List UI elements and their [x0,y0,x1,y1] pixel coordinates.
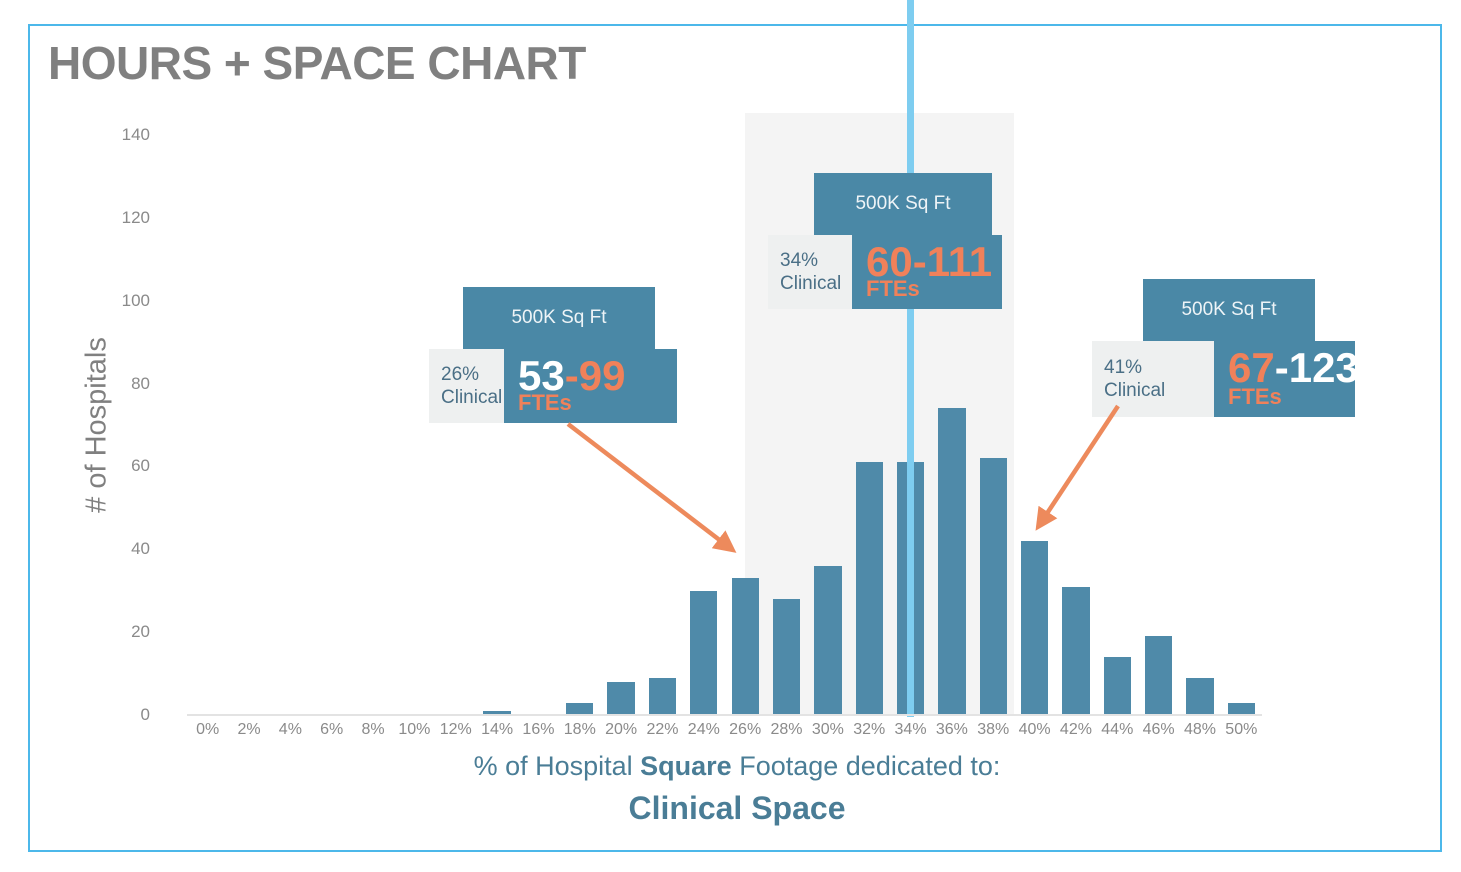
x-axis-label-line2: Clinical Space [30,790,1444,827]
bar [732,578,759,715]
callout-pct-value: 34% [780,249,842,272]
callout-range-high: 123 [1289,344,1359,391]
x-tick-label: 8% [361,721,384,739]
x-tick-label: 24% [688,721,720,739]
callout-sqft-banner: 500K Sq Ft [814,173,992,235]
callout-range-high: 99 [579,352,626,399]
callout-pct-word: Clinical [1104,379,1204,402]
y-tick-label: 140 [90,125,150,145]
x-tick-label: 6% [320,721,343,739]
callout-sqft-label: 500K Sq Ft [1181,299,1276,321]
callout-pct-word: Clinical [780,272,842,295]
bar [1021,541,1048,715]
x-tick-label: 12% [440,721,472,739]
y-tick-label: 80 [90,374,150,394]
bar [814,566,841,715]
callout-ftes-label: FTEs [518,390,572,416]
callout-sqft-label: 500K Sq Ft [511,307,606,329]
bar [649,678,676,715]
bar [607,682,634,715]
x-tick-label: 22% [646,721,678,739]
x-tick-label: 48% [1184,721,1216,739]
highlight-line-34pct [907,0,914,717]
bar [1145,636,1172,715]
x-tick-label: 16% [522,721,554,739]
callout-pct-box: 41% Clinical [1092,341,1214,417]
x-tick-label: 32% [853,721,885,739]
callout-sqft-label: 500K Sq Ft [855,193,950,215]
chart-plot: # of Hospitals 020406080100120140 0%2%4%… [159,135,1262,715]
plot-area [187,135,1262,715]
callout-ftes-label: FTEs [1228,384,1282,410]
callout-body: 34% Clinical 60-111 FTEs [768,235,1002,309]
slide-frame: HOURS + SPACE CHART # of Hospitals 02040… [28,24,1442,852]
x-tick-label: 18% [564,721,596,739]
bar [690,591,717,715]
bar [1104,657,1131,715]
callout-pct-box: 34% Clinical [768,235,852,309]
x-tick-label: 34% [895,721,927,739]
x-tick-label: 20% [605,721,637,739]
x-axis-label-bold: Square [640,751,732,781]
bar [1062,587,1089,715]
callout-pct-word: Clinical [441,386,494,409]
x-tick-label: 38% [977,721,1009,739]
x-tick-label: 26% [729,721,761,739]
callout-pct-value: 41% [1104,356,1204,379]
x-axis-label: % of Hospital Square Footage dedicated t… [30,751,1444,827]
x-axis-line [187,714,1262,716]
callout-sqft-banner: 500K Sq Ft [463,287,655,349]
x-axis-label-post: Footage dedicated to: [732,751,1001,781]
callout-numbers: 53-99 FTEs [504,349,677,423]
callout-numbers: 67-123 FTEs [1214,341,1355,417]
callout-body: 26% Clinical 53-99 FTEs [429,349,677,423]
y-axis-label: # of Hospitals [81,337,114,513]
callout-pct-value: 26% [441,363,494,386]
x-tick-label: 50% [1225,721,1257,739]
callout-body: 41% Clinical 67-123 FTEs [1092,341,1355,417]
callout-ftes-label: FTEs [866,276,920,302]
bar [773,599,800,715]
callout-range: 67-123 [1228,347,1359,389]
x-tick-label: 36% [936,721,968,739]
x-tick-label: 10% [398,721,430,739]
callout-sqft-banner: 500K Sq Ft [1143,279,1315,341]
x-tick-label: 44% [1101,721,1133,739]
y-tick-label: 120 [90,208,150,228]
bar [938,408,965,715]
x-tick-label: 42% [1060,721,1092,739]
y-tick-label: 40 [90,539,150,559]
callout-numbers: 60-111 FTEs [852,235,1002,309]
page-title: HOURS + SPACE CHART [48,36,586,90]
x-tick-label: 30% [812,721,844,739]
x-axis-label-pre: % of Hospital [474,751,641,781]
x-tick-label: 40% [1019,721,1051,739]
x-tick-label: 4% [279,721,302,739]
x-tick-label: 28% [771,721,803,739]
bar [1186,678,1213,715]
x-tick-label: 46% [1143,721,1175,739]
x-tick-label: 14% [481,721,513,739]
x-tick-label: 2% [237,721,260,739]
y-tick-label: 0 [90,705,150,725]
bar [856,462,883,715]
x-axis-label-line1: % of Hospital Square Footage dedicated t… [30,751,1444,782]
bar [980,458,1007,715]
callout-26-percent: 500K Sq Ft 26% Clinical 53-99 FTEs [429,287,689,423]
callout-34-percent: 500K Sq Ft 34% Clinical 60-111 FTEs [768,173,1008,309]
y-tick-label: 60 [90,456,150,476]
callout-pct-box: 26% Clinical [429,349,504,423]
x-tick-label: 0% [196,721,219,739]
callout-41-percent: 500K Sq Ft 41% Clinical 67-123 FTEs [1092,279,1364,419]
y-tick-label: 20 [90,622,150,642]
y-tick-label: 100 [90,291,150,311]
